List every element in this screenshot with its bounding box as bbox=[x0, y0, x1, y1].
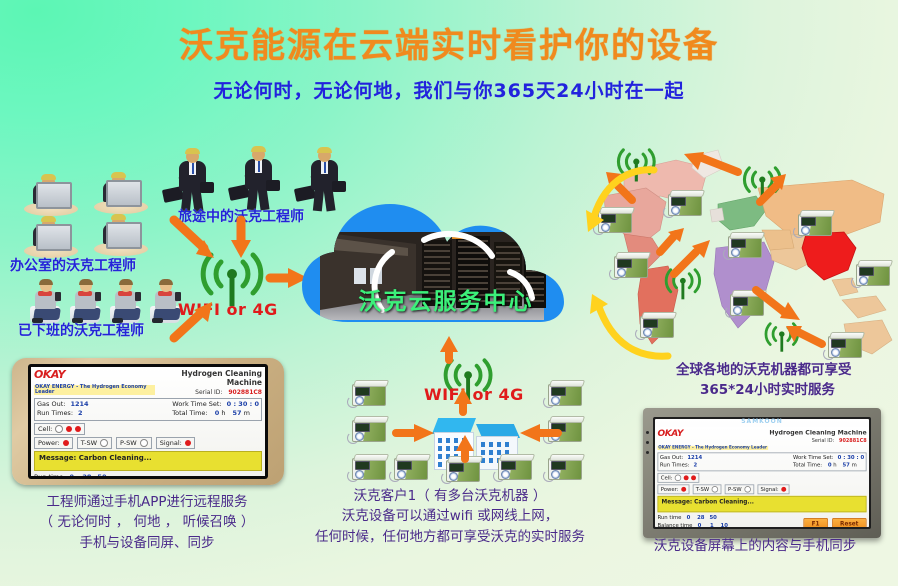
signal-indicator bbox=[781, 487, 786, 492]
cell-indicator-on bbox=[66, 426, 72, 432]
arrow-machine-to-building bbox=[518, 422, 560, 444]
cell-indicator-on bbox=[691, 475, 696, 480]
machine bbox=[352, 452, 390, 482]
caption-center-line3: 任何时候，任何地方都可享受沃克的实时服务 bbox=[280, 527, 620, 547]
phone-mockup[interactable]: OKAY OKAY ENERGY - The Hydrogen Economy … bbox=[12, 358, 284, 485]
serial-id-row: Serial ID: 902881C8 bbox=[155, 389, 262, 396]
power-control[interactable]: Power: bbox=[34, 437, 73, 449]
power-label: Power: bbox=[38, 439, 60, 447]
machine bbox=[548, 452, 586, 482]
arrow-map bbox=[680, 150, 742, 178]
balance-time-s: 10 bbox=[719, 522, 730, 527]
signal-label: Signal: bbox=[160, 439, 182, 447]
total-time-minutes: 57 bbox=[233, 409, 242, 417]
page-title: 沃克能源在云端实时看护你的设备 bbox=[0, 18, 898, 67]
arrow-office-to-wifi bbox=[172, 218, 220, 264]
message-banner: Message: Carbon Cleaning... bbox=[34, 451, 262, 471]
readouts-left: Gas Out:1214 Run Times:2 bbox=[660, 454, 702, 469]
okay-logo: OKAY OKAY ENERGY - The Hydrogen Economy … bbox=[657, 429, 767, 451]
run-time-s: 50 bbox=[95, 473, 108, 476]
total-time-minutes: 57 bbox=[842, 462, 849, 469]
cell-status[interactable]: Cell: bbox=[657, 473, 699, 483]
message-value: Carbon Cleaning... bbox=[79, 454, 152, 462]
work-time-value: 0 : 30 : 0 bbox=[227, 400, 259, 408]
tsw-indicator bbox=[712, 486, 719, 493]
gas-out-label: Gas Out: bbox=[660, 454, 683, 461]
run-time-m: 28 bbox=[695, 514, 706, 522]
machine bbox=[548, 378, 586, 408]
hmi-panel-screen[interactable]: OKAY OKAY ENERGY - The Hydrogen Economy … bbox=[655, 427, 869, 527]
seated-person bbox=[66, 280, 106, 325]
message-banner: Message: Carbon Cleaning... bbox=[657, 496, 866, 512]
seated-person bbox=[26, 280, 66, 325]
total-time-label: Total Time: bbox=[172, 409, 207, 417]
arrow-travelers-to-wifi bbox=[227, 218, 257, 260]
cell-status[interactable]: Cell: bbox=[34, 423, 85, 435]
hmi-panel-device[interactable]: SAMKOON OKAY OKAY ENERGY - The Hydrogen … bbox=[643, 408, 881, 538]
psw-label: P-SW bbox=[120, 439, 137, 447]
caption-left-line2: （ 无论何时 ， 何地 ， 听候召唤 ） bbox=[2, 512, 292, 532]
work-time-label: Work Time Set: bbox=[172, 400, 221, 408]
run-times-label: Run Times: bbox=[660, 462, 690, 469]
gas-out-value: 1214 bbox=[687, 454, 702, 461]
balance-time-label: Balance time bbox=[657, 522, 692, 527]
caption-right: 沃克设备屏幕上的内容与手机同步 bbox=[612, 536, 898, 556]
total-time-hours: 0 bbox=[828, 462, 832, 469]
power-label: Power: bbox=[661, 486, 679, 493]
machine bbox=[394, 452, 432, 482]
run-time-label: Run time bbox=[657, 514, 681, 521]
serial-label: Serial ID: bbox=[812, 438, 834, 444]
work-time-label: Work Time Set: bbox=[793, 454, 833, 461]
machine bbox=[828, 330, 866, 360]
panel-bezel: SAMKOON OKAY OKAY ENERGY - The Hydrogen … bbox=[653, 417, 871, 529]
machine bbox=[352, 414, 390, 444]
cell-indicator-off bbox=[675, 474, 682, 481]
panel-brand-label: SAMKOON bbox=[741, 418, 783, 425]
cell-label: Cell: bbox=[38, 425, 52, 433]
office-worker bbox=[22, 212, 80, 258]
psw-control[interactable]: P-SW bbox=[725, 484, 754, 494]
total-time-hour-unit: h bbox=[833, 462, 836, 469]
total-time-label: Total Time: bbox=[793, 462, 822, 469]
traveler bbox=[232, 146, 284, 212]
run-time-m: 28 bbox=[80, 473, 93, 476]
run-times-value: 2 bbox=[694, 462, 698, 469]
panel-screen[interactable]: OKAY OKAY ENERGY - The Hydrogen Economy … bbox=[655, 419, 869, 527]
arrow-map bbox=[752, 286, 804, 322]
readouts-box: Gas Out:1214 Run Times:2 Work Time Set:0… bbox=[34, 398, 262, 421]
power-control[interactable]: Power: bbox=[657, 484, 689, 494]
panel-indicator-leds bbox=[646, 431, 649, 454]
machine bbox=[798, 208, 836, 238]
office-worker bbox=[92, 210, 150, 256]
cloud-label: 沃克云服务中心 bbox=[296, 282, 596, 316]
psw-control[interactable]: P-SW bbox=[116, 437, 152, 449]
gas-out-value: 1214 bbox=[70, 400, 88, 408]
logo-brand: OKAY bbox=[34, 369, 155, 380]
phone-screen[interactable]: OKAY OKAY ENERGY - The Hydrogen Economy … bbox=[28, 364, 268, 479]
total-time-minute-unit: m bbox=[244, 409, 250, 417]
run-time-h: 0 bbox=[683, 514, 694, 522]
signal-label: Signal: bbox=[761, 486, 779, 493]
reset-button[interactable]: Reset bbox=[832, 518, 867, 527]
traveler bbox=[166, 148, 218, 214]
arrow-building-up bbox=[454, 435, 478, 461]
label-global-line2: 365*24小时实时服务 bbox=[700, 378, 835, 398]
machine bbox=[856, 258, 894, 288]
logo-brand: OKAY bbox=[657, 429, 767, 438]
gas-out-label: Gas Out: bbox=[37, 400, 65, 408]
caption-left-line3: 手机与设备同屏、同步 bbox=[2, 533, 292, 553]
run-time-h: 0 bbox=[65, 473, 78, 476]
readouts-right: Work Time Set:0 : 30 : 0 Total Time: 0 h… bbox=[793, 454, 864, 469]
readouts-right: Work Time Set:0 : 30 : 0 Total Time: 0 h… bbox=[172, 400, 259, 419]
seated-person bbox=[106, 280, 146, 325]
signal-status[interactable]: Signal: bbox=[757, 484, 789, 494]
machine-title: Hydrogen Cleaning Machine bbox=[155, 369, 262, 387]
label-offduty-engineers: 已下班的沃克工程师 bbox=[18, 320, 144, 340]
tsw-control[interactable]: T-SW bbox=[77, 437, 112, 449]
machine-title: Hydrogen Cleaning Machine bbox=[769, 429, 866, 436]
arrow-map-to-cloud bbox=[588, 290, 674, 364]
page-subtitle: 无论何时，无论何地，我们与你365天24小时在一起 bbox=[0, 76, 898, 103]
china-highlight bbox=[802, 232, 856, 280]
psw-indicator bbox=[140, 439, 148, 447]
caption-left: 工程师通过手机APP进行远程服务 （ 无论何时 ， 何地 ， 听候召唤 ） 手机… bbox=[2, 492, 292, 553]
tsw-indicator bbox=[100, 439, 108, 447]
readouts-left: Gas Out:1214 Run Times:2 bbox=[37, 400, 89, 419]
caption-right-line1: 沃克设备屏幕上的内容与手机同步 bbox=[612, 536, 898, 556]
machine bbox=[728, 230, 766, 260]
arrow-wifi-to-cloud-center bbox=[438, 336, 462, 362]
label-global-line1: 全球各地的沃克机器都可享受 bbox=[676, 358, 852, 378]
logo-tagline: OKAY ENERGY - The Hydrogen Economy Leade… bbox=[34, 385, 155, 395]
power-indicator bbox=[681, 487, 686, 492]
arrow-map bbox=[754, 172, 788, 206]
signal-indicator bbox=[185, 440, 191, 446]
total-time-hour-unit: h bbox=[221, 409, 225, 417]
arrow-building-to-wifi bbox=[452, 388, 476, 414]
hmi-app-screen[interactable]: OKAY OKAY ENERGY - The Hydrogen Economy … bbox=[31, 367, 265, 476]
balance-time-h: 0 bbox=[694, 522, 705, 527]
serial-value: 902881C8 bbox=[839, 438, 867, 444]
timers-block: Run time 0 28 50 Balance time 0 1 10 bbox=[34, 473, 122, 476]
timers-block: Run time 0 28 50 Balance time 0 1 10 bbox=[657, 514, 729, 527]
run-times-label: Run Times: bbox=[37, 409, 73, 417]
total-time-minute-unit: m bbox=[852, 462, 857, 469]
total-time-hours: 0 bbox=[215, 409, 220, 417]
message-label: Message: bbox=[662, 498, 693, 505]
tsw-label: T-SW bbox=[696, 486, 709, 493]
tsw-label: T-SW bbox=[81, 439, 97, 447]
arrow-map bbox=[784, 324, 826, 350]
arrow-machine-to-building bbox=[394, 422, 436, 444]
caption-center: 沃克客户1（ 有多台沃克机器 ） 沃克设备可以通过wifi 或网线上网， 任何时… bbox=[280, 486, 620, 547]
run-times-value: 2 bbox=[78, 409, 83, 417]
work-time-value: 0 : 30 : 0 bbox=[838, 454, 865, 461]
cell-indicator-off bbox=[55, 425, 63, 433]
psw-indicator bbox=[744, 486, 751, 493]
psw-label: P-SW bbox=[728, 486, 742, 493]
machine bbox=[668, 188, 706, 218]
cell-indicator-on bbox=[684, 475, 689, 480]
cell-indicator-on bbox=[75, 426, 81, 432]
serial-id-row: Serial ID: 902881C8 bbox=[769, 438, 866, 444]
serial-value: 902881C8 bbox=[228, 389, 262, 396]
machine bbox=[614, 250, 652, 280]
caption-center-line1: 沃克客户1（ 有多台沃克机器 ） bbox=[280, 486, 620, 506]
message-value: Carbon Cleaning... bbox=[694, 498, 754, 505]
office-worker bbox=[22, 170, 80, 216]
cloud-service-center: 沃克云服务中心 bbox=[296, 198, 596, 348]
cell-label: Cell: bbox=[661, 474, 673, 481]
balance-time-m: 1 bbox=[707, 522, 718, 527]
label-office-engineers: 办公室的沃克工程师 bbox=[10, 255, 136, 275]
machine bbox=[352, 378, 390, 408]
arrow-map bbox=[670, 238, 714, 278]
caption-left-line1: 工程师通过手机APP进行远程服务 bbox=[2, 492, 292, 512]
okay-logo: OKAY OKAY ENERGY - The Hydrogen Economy … bbox=[34, 369, 155, 396]
caption-center-line2: 沃克设备可以通过wifi 或网线上网， bbox=[280, 506, 620, 526]
office-worker bbox=[92, 168, 150, 214]
power-indicator bbox=[63, 440, 69, 446]
f1-button[interactable]: F1 bbox=[803, 518, 827, 527]
logo-tagline: OKAY ENERGY - The Hydrogen Economy Leade… bbox=[657, 446, 767, 450]
run-time-s: 50 bbox=[708, 514, 719, 522]
arrow-offduty-to-wifi bbox=[170, 300, 216, 342]
run-time-label: Run time bbox=[34, 473, 63, 476]
infographic-canvas: 沃克能源在云端实时看护你的设备 无论何时，无论何地，我们与你365天24小时在一… bbox=[0, 0, 898, 586]
message-label: Message: bbox=[39, 454, 76, 462]
signal-status[interactable]: Signal: bbox=[156, 437, 195, 449]
arrow-cloud-to-map bbox=[586, 158, 664, 230]
machine bbox=[498, 452, 536, 482]
serial-label: Serial ID: bbox=[195, 389, 222, 396]
tsw-control[interactable]: T-SW bbox=[693, 484, 722, 494]
readouts-box: Gas Out:1214 Run Times:2 Work Time Set:0… bbox=[657, 452, 866, 471]
